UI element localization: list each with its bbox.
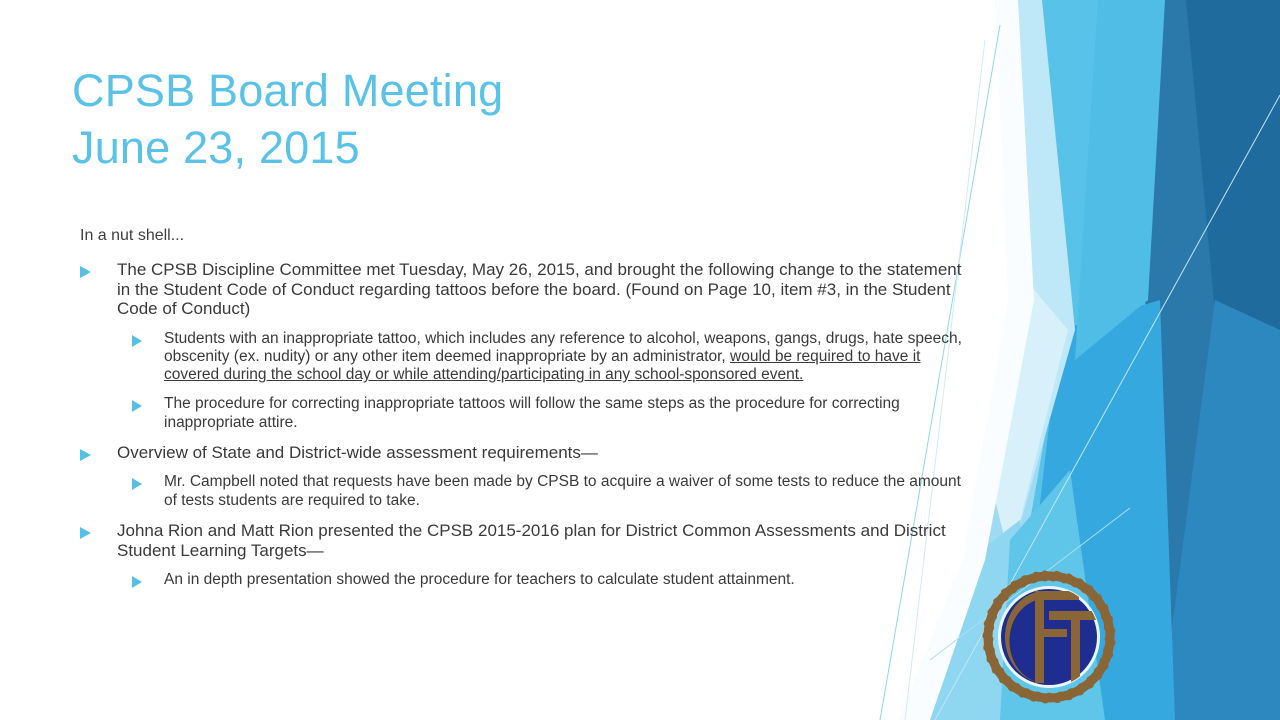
bullet-triangle-icon [132, 400, 142, 412]
bullet-triangle-icon [132, 478, 142, 490]
facet-shape-pale-c [975, 255, 1068, 560]
slide-body: In a nut shell... The CPSB Discipline Co… [80, 226, 970, 600]
bullet-text: An in depth presentation showed the proc… [164, 571, 795, 589]
bullet-item: Mr. Campbell noted that requests have be… [80, 473, 970, 510]
bullet-text: Mr. Campbell noted that requests have be… [164, 473, 970, 510]
bullet-text: Johna Rion and Matt Rion presented the C… [117, 521, 970, 560]
title-line-2: June 23, 2015 [72, 119, 932, 176]
bullet-triangle-icon [80, 527, 91, 539]
bullet-text: The procedure for correcting inappropria… [164, 395, 970, 432]
facet-shape-mid-c [1075, 0, 1165, 360]
bullet-triangle-icon [80, 266, 91, 278]
facet-shape-dark-c [1160, 300, 1280, 720]
bullet-item: Overview of State and District-wide asse… [80, 443, 970, 463]
facet-shape-dark-right [1150, 0, 1280, 720]
bullet-text: Students with an inappropriate tattoo, w… [164, 330, 970, 385]
laurel-leaf [1095, 594, 1102, 610]
facet-shape-dark-b [1186, 0, 1280, 420]
title-line-1: CPSB Board Meeting [72, 62, 932, 119]
bullet-list: The CPSB Discipline Committee met Tuesda… [80, 260, 970, 589]
bullet-text: The CPSB Discipline Committee met Tuesda… [117, 260, 970, 319]
presentation-slide: CPSB Board Meeting June 23, 2015 In a nu… [0, 0, 1280, 720]
slide-title: CPSB Board Meeting June 23, 2015 [72, 62, 932, 176]
bullet-triangle-icon [80, 449, 91, 461]
bullet-text: Overview of State and District-wide asse… [117, 443, 598, 463]
bullet-item: Johna Rion and Matt Rion presented the C… [80, 521, 970, 560]
lead-text: In a nut shell... [80, 226, 970, 246]
cft-logo [975, 563, 1123, 711]
bullet-item: Students with an inappropriate tattoo, w… [80, 330, 970, 385]
bullet-item: An in depth presentation showed the proc… [80, 571, 970, 589]
bullet-item: The CPSB Discipline Committee met Tuesda… [80, 260, 970, 319]
bullet-item: The procedure for correcting inappropria… [80, 395, 970, 432]
facet-shape-pale-b [978, 0, 1075, 560]
bullet-triangle-icon [132, 335, 142, 347]
bullet-triangle-icon [132, 576, 142, 588]
bullet-text-underlined: would be required to have it covered dur… [164, 348, 920, 383]
